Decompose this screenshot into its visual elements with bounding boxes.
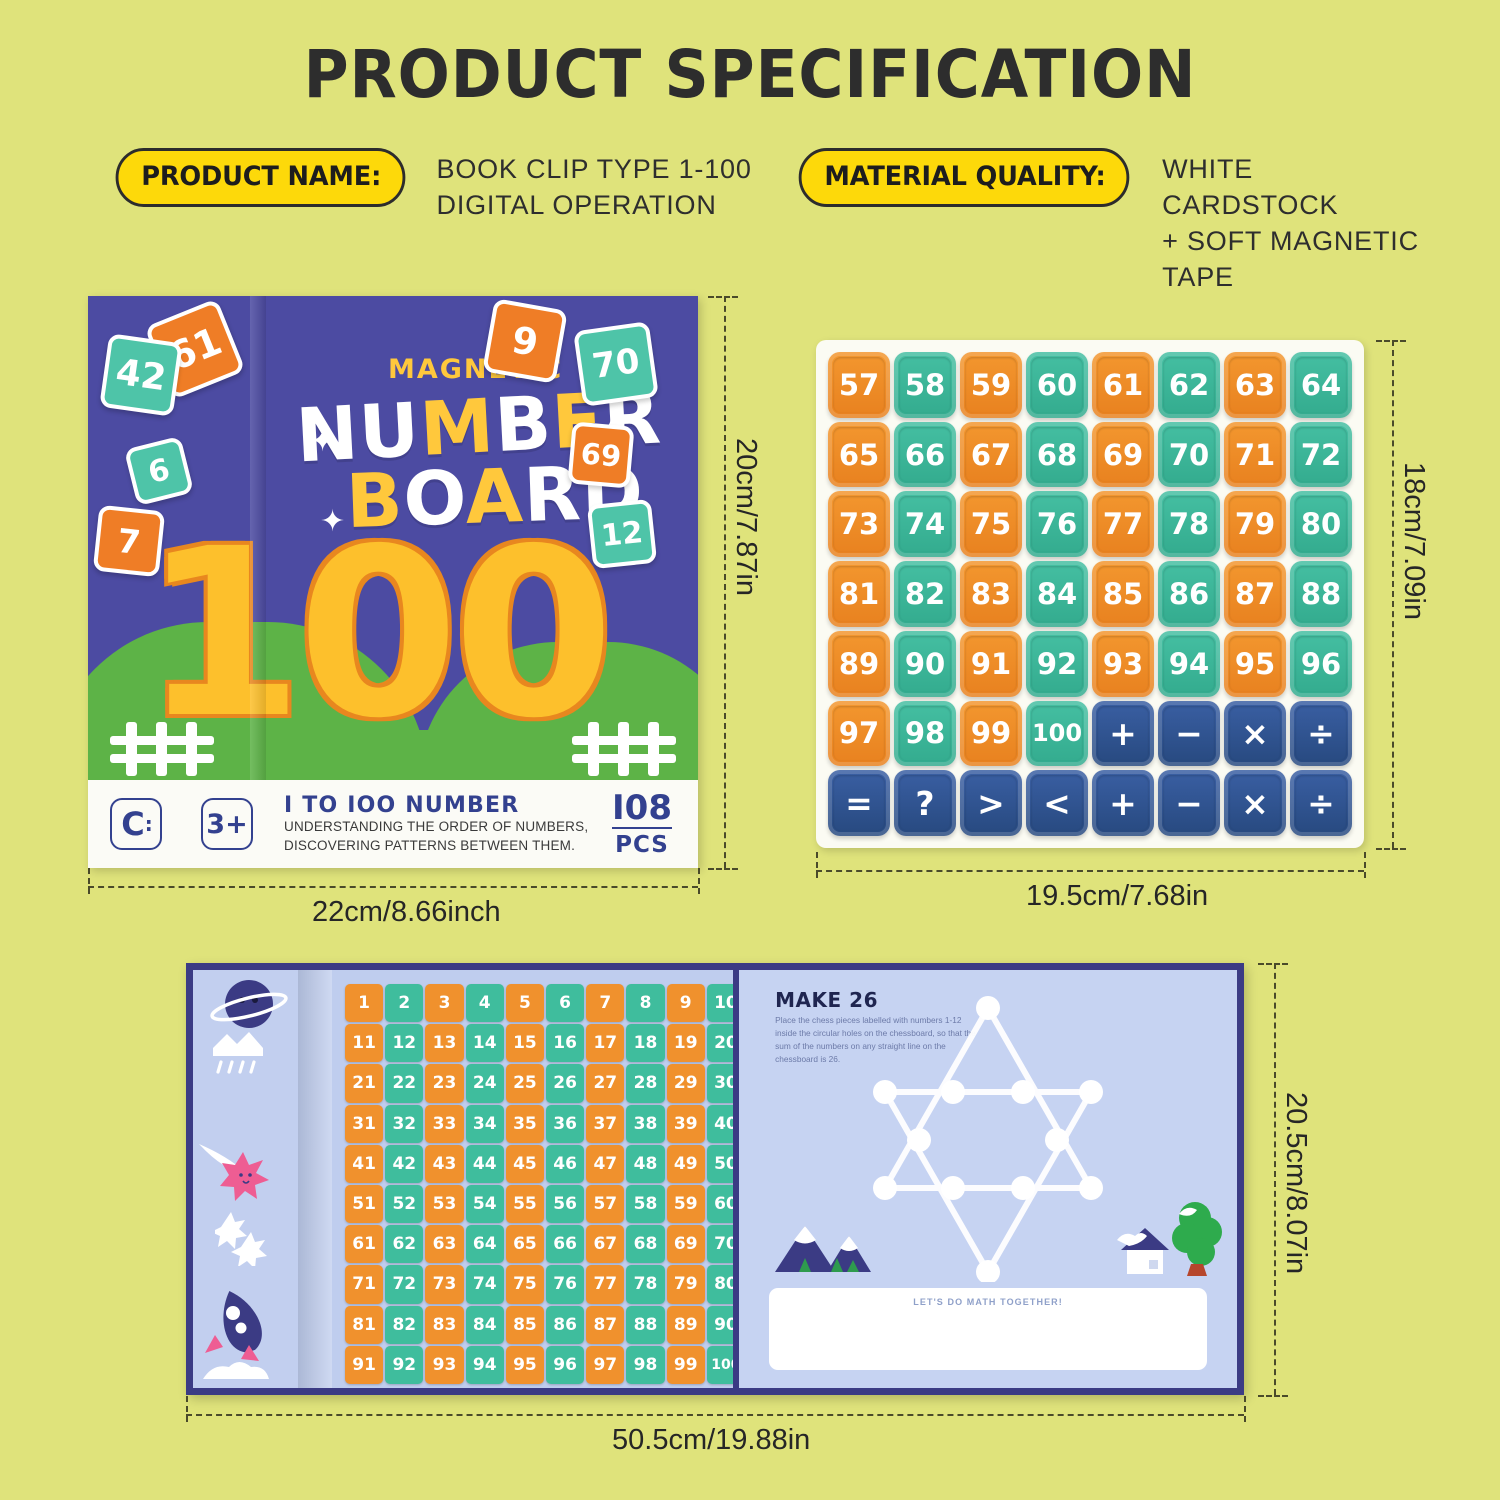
- grid-number-cell[interactable]: 76: [546, 1265, 584, 1303]
- board-tile[interactable]: 91: [960, 631, 1022, 697]
- board-tile[interactable]: ÷: [1290, 770, 1352, 836]
- grid-number-cell[interactable]: 61: [345, 1225, 383, 1263]
- grid-number-cell[interactable]: 74: [466, 1265, 504, 1303]
- board-tile[interactable]: 68: [1026, 422, 1088, 488]
- left-page-decor-strip: [193, 970, 298, 1388]
- grid-number-cell[interactable]: 13: [425, 1024, 463, 1062]
- grid-number-cell[interactable]: 67: [586, 1225, 624, 1263]
- grid-number-cell[interactable]: 43: [425, 1145, 463, 1183]
- grid-number-cell[interactable]: 9: [667, 984, 705, 1022]
- pcs-number: I08: [612, 791, 672, 829]
- book-height-label: 20.5cm/8.07in: [1279, 1092, 1312, 1274]
- board-tile[interactable]: 77: [1092, 491, 1154, 557]
- board-tile[interactable]: 73: [828, 491, 890, 557]
- grid-number-cell[interactable]: 15: [506, 1024, 544, 1062]
- grid-number-cell[interactable]: 54: [466, 1185, 504, 1223]
- board-tile[interactable]: 95: [1224, 631, 1286, 697]
- grid-number-cell[interactable]: 31: [345, 1105, 383, 1143]
- grid-number-cell[interactable]: 38: [626, 1105, 664, 1143]
- grid-number-cell[interactable]: 29: [667, 1064, 705, 1102]
- board-tile[interactable]: 66: [894, 422, 956, 488]
- grid-number-cell[interactable]: 25: [506, 1064, 544, 1102]
- grid-number-cell[interactable]: 68: [626, 1225, 664, 1263]
- grid-number-cell[interactable]: 91: [345, 1346, 383, 1384]
- spec-label-product-name: PRODUCT NAME:: [116, 148, 405, 207]
- grid-number-cell[interactable]: 27: [586, 1064, 624, 1102]
- board-tile[interactable]: 86: [1158, 561, 1220, 627]
- grid-number-cell[interactable]: 55: [506, 1185, 544, 1223]
- grid-number-cell[interactable]: 63: [425, 1225, 463, 1263]
- grid-number-cell[interactable]: 90: [707, 1306, 736, 1344]
- board-tile[interactable]: ?: [894, 770, 956, 836]
- grid-number-cell[interactable]: 45: [506, 1145, 544, 1183]
- board-tile[interactable]: 69: [1092, 422, 1154, 488]
- board-tile[interactable]: 63: [1224, 352, 1286, 418]
- product-specification-page: PRODUCT SPECIFICATION PRODUCT NAME: BOOK…: [0, 0, 1500, 1500]
- grid-number-cell[interactable]: 32: [385, 1105, 423, 1143]
- grid-number-cell[interactable]: 94: [466, 1346, 504, 1384]
- grid-number-cell[interactable]: 5: [506, 984, 544, 1022]
- rocket-icon: [197, 1283, 297, 1388]
- box-fold-crease: [250, 296, 266, 780]
- open-book-image: 1234567891011121314151617181920212223242…: [186, 963, 1244, 1395]
- board-tile[interactable]: 72: [1290, 422, 1352, 488]
- board-tile[interactable]: 96: [1290, 631, 1352, 697]
- box-headline: I TO IOO NUMBER: [284, 793, 612, 818]
- grid-number-cell[interactable]: 28: [626, 1064, 664, 1102]
- grid-number-cell[interactable]: 86: [546, 1306, 584, 1344]
- book-left-page: 1234567891011121314151617181920212223242…: [186, 963, 736, 1395]
- grid-number-cell[interactable]: 99: [667, 1346, 705, 1384]
- board-tile[interactable]: 84: [1026, 561, 1088, 627]
- board-tile[interactable]: 89: [828, 631, 890, 697]
- board-tile[interactable]: −: [1158, 770, 1220, 836]
- grid-number-cell[interactable]: 78: [626, 1265, 664, 1303]
- grid-number-cell[interactable]: 26: [546, 1064, 584, 1102]
- board-tile[interactable]: 80: [1290, 491, 1352, 557]
- grid-number-cell[interactable]: 37: [586, 1105, 624, 1143]
- grid-number-cell[interactable]: 97: [586, 1346, 624, 1384]
- board-tile[interactable]: 85: [1092, 561, 1154, 627]
- board-tile[interactable]: 60: [1026, 352, 1088, 418]
- grid-number-cell[interactable]: 88: [626, 1306, 664, 1344]
- board-tile[interactable]: 81: [828, 561, 890, 627]
- grid-number-cell[interactable]: 36: [546, 1105, 584, 1143]
- product-box-image: MAGNETIC NUMBER BOARD ✦ ✦ ✦ ✦ 100 61 42 …: [88, 296, 698, 868]
- grid-number-cell[interactable]: 66: [546, 1225, 584, 1263]
- grid-number-cell[interactable]: 100: [707, 1346, 736, 1384]
- grid-number-cell[interactable]: 69: [667, 1225, 705, 1263]
- book-height-measure-line: [1274, 963, 1276, 1395]
- board-tile[interactable]: 61: [1092, 352, 1154, 418]
- grid-number-cell[interactable]: 42: [385, 1145, 423, 1183]
- grid-number-cell[interactable]: 95: [506, 1346, 544, 1384]
- spec-row: PRODUCT NAME: BOOK CLIP TYPE 1-100 DIGIT…: [108, 148, 1428, 234]
- grid-number-cell[interactable]: 18: [626, 1024, 664, 1062]
- grid-number-cell[interactable]: 73: [425, 1265, 463, 1303]
- tileboard-width-tick-left: [816, 852, 818, 878]
- grid-number-cell[interactable]: 41: [345, 1145, 383, 1183]
- board-tile[interactable]: +: [1092, 701, 1154, 767]
- box-height-tick-bottom: [708, 868, 738, 870]
- board-tile[interactable]: 59: [960, 352, 1022, 418]
- tree-icon: [1169, 1198, 1227, 1284]
- board-tile[interactable]: 76: [1026, 491, 1088, 557]
- board-tile[interactable]: 57: [828, 352, 890, 418]
- comet-icon: [197, 1138, 289, 1208]
- board-tile[interactable]: 100: [1026, 701, 1088, 767]
- pcs-unit: PCS: [612, 832, 672, 858]
- grid-number-cell[interactable]: 82: [385, 1306, 423, 1344]
- grid-number-cell[interactable]: 53: [425, 1185, 463, 1223]
- star-icon: [215, 1208, 275, 1266]
- mountains-icon: [769, 1218, 879, 1276]
- board-tile[interactable]: 79: [1224, 491, 1286, 557]
- page-title: PRODUCT SPECIFICATION: [53, 36, 1448, 113]
- tileboard-width-tick-right: [1364, 852, 1366, 878]
- board-tile[interactable]: 67: [960, 422, 1022, 488]
- grid-number-cell[interactable]: 39: [667, 1105, 705, 1143]
- box-width-label: 22cm/8.66inch: [312, 896, 501, 929]
- grid-number-cell[interactable]: 14: [466, 1024, 504, 1062]
- grid-number-cell[interactable]: 52: [385, 1185, 423, 1223]
- board-tile[interactable]: 98: [894, 701, 956, 767]
- board-tile[interactable]: <: [1026, 770, 1088, 836]
- board-tile[interactable]: 99: [960, 701, 1022, 767]
- floating-chip: 7: [93, 505, 166, 578]
- grid-number-cell[interactable]: 85: [506, 1306, 544, 1344]
- sparkle-icon-1: ✦: [310, 424, 335, 459]
- grid-number-cell[interactable]: 92: [385, 1346, 423, 1384]
- board-tile[interactable]: 90: [894, 631, 956, 697]
- board-tile[interactable]: 93: [1092, 631, 1154, 697]
- grid-number-cell[interactable]: 56: [546, 1185, 584, 1223]
- grid-number-cell[interactable]: 48: [626, 1145, 664, 1183]
- book-width-label: 50.5cm/19.88in: [612, 1424, 810, 1457]
- box-footer: C: 3+ I TO IOO NUMBER UNDERSTANDING THE …: [88, 780, 698, 868]
- board-tile[interactable]: 64: [1290, 352, 1352, 418]
- grid-number-cell[interactable]: 96: [546, 1346, 584, 1384]
- board-tile[interactable]: −: [1158, 701, 1220, 767]
- tileboard-width-label: 19.5cm/7.68in: [1026, 880, 1208, 913]
- grid-number-cell[interactable]: 23: [425, 1064, 463, 1102]
- grid-number-cell[interactable]: 30: [707, 1064, 736, 1102]
- book-width-tick-left: [186, 1396, 188, 1422]
- grid-number-cell[interactable]: 1: [345, 984, 383, 1022]
- grid-number-cell[interactable]: 62: [385, 1225, 423, 1263]
- board-tile[interactable]: 97: [828, 701, 890, 767]
- board-tile[interactable]: 87: [1224, 561, 1286, 627]
- board-tile[interactable]: 83: [960, 561, 1022, 627]
- box-subline: UNDERSTANDING THE ORDER OF NUMBERS, DISC…: [284, 818, 612, 854]
- grid-number-cell[interactable]: 47: [586, 1145, 624, 1183]
- grid-number-cell[interactable]: 16: [546, 1024, 584, 1062]
- floating-chip: 42: [99, 333, 183, 417]
- spec-label-material-quality: MATERIAL QUALITY:: [799, 148, 1130, 207]
- grid-number-cell[interactable]: 20: [707, 1024, 736, 1062]
- grid-number-cell[interactable]: 71: [345, 1265, 383, 1303]
- grid-number-cell[interactable]: 21: [345, 1064, 383, 1102]
- grid-number-cell[interactable]: 58: [626, 1185, 664, 1223]
- grid-number-cell[interactable]: 4: [466, 984, 504, 1022]
- grid-number-cell[interactable]: 17: [586, 1024, 624, 1062]
- grid-number-cell[interactable]: 65: [506, 1225, 544, 1263]
- grid-number-cell[interactable]: 22: [385, 1064, 423, 1102]
- grid-number-cell[interactable]: 8: [626, 984, 664, 1022]
- grid-number-cell[interactable]: 64: [466, 1225, 504, 1263]
- grid-number-cell[interactable]: 93: [425, 1346, 463, 1384]
- grid-number-cell[interactable]: 6: [546, 984, 584, 1022]
- box-height-measure-line: [724, 296, 726, 868]
- board-tile[interactable]: 71: [1224, 422, 1286, 488]
- book-spine-shadow: [298, 970, 332, 1388]
- grid-number-cell[interactable]: 87: [586, 1306, 624, 1344]
- box-width-measure-line: [88, 886, 698, 888]
- answer-box[interactable]: LET'S DO MATH TOGETHER!: [769, 1288, 1207, 1370]
- grid-number-cell[interactable]: 44: [466, 1145, 504, 1183]
- spec-value-material-quality: WHITE CARDSTOCK + SOFT MAGNETIC TAPE: [1162, 152, 1428, 296]
- box-big-number: 100: [142, 518, 608, 750]
- grid-number-cell[interactable]: 7: [586, 984, 624, 1022]
- grid-number-cell[interactable]: 40: [707, 1105, 736, 1143]
- board-tile[interactable]: +: [1092, 770, 1154, 836]
- grid-number-cell[interactable]: 83: [425, 1306, 463, 1344]
- spec-product-name: PRODUCT NAME: BOOK CLIP TYPE 1-100 DIGIT…: [108, 148, 752, 224]
- magnet-icon: C:: [110, 798, 162, 850]
- board-tile[interactable]: 92: [1026, 631, 1088, 697]
- board-tile[interactable]: 58: [894, 352, 956, 418]
- grid-number-cell[interactable]: 3: [425, 984, 463, 1022]
- floating-chip: 70: [573, 321, 659, 407]
- grid-number-cell[interactable]: 60: [707, 1185, 736, 1223]
- book-right-page: MAKE 26 Place the chess pieces labelled …: [736, 963, 1244, 1395]
- grid-number-cell[interactable]: 50: [707, 1145, 736, 1183]
- board-tile[interactable]: =: [828, 770, 890, 836]
- board-tile[interactable]: 62: [1158, 352, 1220, 418]
- board-tile[interactable]: 74: [894, 491, 956, 557]
- board-tile[interactable]: ×: [1224, 770, 1286, 836]
- grid-number-cell[interactable]: 98: [626, 1346, 664, 1384]
- grid-number-cell[interactable]: 84: [466, 1306, 504, 1344]
- book-height-tick-bottom: [1258, 1395, 1288, 1397]
- board-tile[interactable]: 82: [894, 561, 956, 627]
- tileboard-height-measure-line: [1392, 340, 1394, 848]
- floating-chip: 9: [482, 298, 568, 384]
- book-width-tick-right: [1244, 1396, 1246, 1422]
- box-height-label: 20cm/7.87in: [729, 438, 762, 596]
- board-tile[interactable]: 94: [1158, 631, 1220, 697]
- grid-number-cell[interactable]: 24: [466, 1064, 504, 1102]
- board-tile[interactable]: 65: [828, 422, 890, 488]
- grid-number-cell[interactable]: 70: [707, 1225, 736, 1263]
- board-tile[interactable]: ÷: [1290, 701, 1352, 767]
- grid-number-cell[interactable]: 49: [667, 1145, 705, 1183]
- board-tile[interactable]: ×: [1224, 701, 1286, 767]
- answer-box-label: LET'S DO MATH TOGETHER!: [769, 1297, 1207, 1307]
- board-tile[interactable]: 88: [1290, 561, 1352, 627]
- book-height-tick-top: [1258, 963, 1288, 965]
- spec-value-product-name: BOOK CLIP TYPE 1-100 DIGITAL OPERATION: [437, 152, 752, 224]
- rain-cloud-icon: [201, 1022, 281, 1082]
- tileboard-height-tick-top: [1376, 340, 1406, 342]
- grid-number-cell[interactable]: 35: [506, 1105, 544, 1143]
- pcs-count-badge: I08 PCS: [612, 791, 698, 858]
- grid-number-cell[interactable]: 57: [586, 1185, 624, 1223]
- spec-material-quality: MATERIAL QUALITY: WHITE CARDSTOCK + SOFT…: [790, 148, 1428, 296]
- box-width-tick-left: [88, 868, 90, 894]
- number-grid-1-to-100: 1234567891011121314151617181920212223242…: [345, 984, 736, 1384]
- grid-number-cell[interactable]: 34: [466, 1105, 504, 1143]
- floating-chip: 12: [587, 499, 657, 569]
- grid-number-cell[interactable]: 81: [345, 1306, 383, 1344]
- grid-number-cell[interactable]: 77: [586, 1265, 624, 1303]
- grid-number-cell[interactable]: 33: [425, 1105, 463, 1143]
- grid-number-cell[interactable]: 12: [385, 1024, 423, 1062]
- tileboard-height-label: 18cm/7.09in: [1397, 462, 1430, 620]
- grid-number-cell[interactable]: 10: [707, 984, 736, 1022]
- grid-number-cell[interactable]: 72: [385, 1265, 423, 1303]
- board-tile[interactable]: 75: [960, 491, 1022, 557]
- grid-number-cell[interactable]: 19: [667, 1024, 705, 1062]
- grid-number-cell[interactable]: 59: [667, 1185, 705, 1223]
- box-height-tick-top: [708, 296, 738, 298]
- grid-number-cell[interactable]: 46: [546, 1145, 584, 1183]
- grid-number-cell[interactable]: 2: [385, 984, 423, 1022]
- magnetic-tile-board: 5758596061626364656667686970717273747576…: [816, 340, 1364, 848]
- grid-number-cell[interactable]: 79: [667, 1265, 705, 1303]
- grid-number-cell[interactable]: 51: [345, 1185, 383, 1223]
- grid-number-cell[interactable]: 80: [707, 1265, 736, 1303]
- box-width-tick-right: [698, 868, 700, 894]
- book-width-measure-line: [186, 1414, 1244, 1416]
- age-badge: 3+: [201, 798, 253, 850]
- board-tile[interactable]: >: [960, 770, 1022, 836]
- tileboard-width-measure-line: [816, 870, 1364, 872]
- tileboard-height-tick-bottom: [1376, 848, 1406, 850]
- grid-number-cell[interactable]: 89: [667, 1306, 705, 1344]
- grid-number-cell[interactable]: 75: [506, 1265, 544, 1303]
- board-tile[interactable]: 78: [1158, 491, 1220, 557]
- board-tile[interactable]: 70: [1158, 422, 1220, 488]
- floating-chip: 69: [567, 421, 634, 488]
- grid-number-cell[interactable]: 11: [345, 1024, 383, 1062]
